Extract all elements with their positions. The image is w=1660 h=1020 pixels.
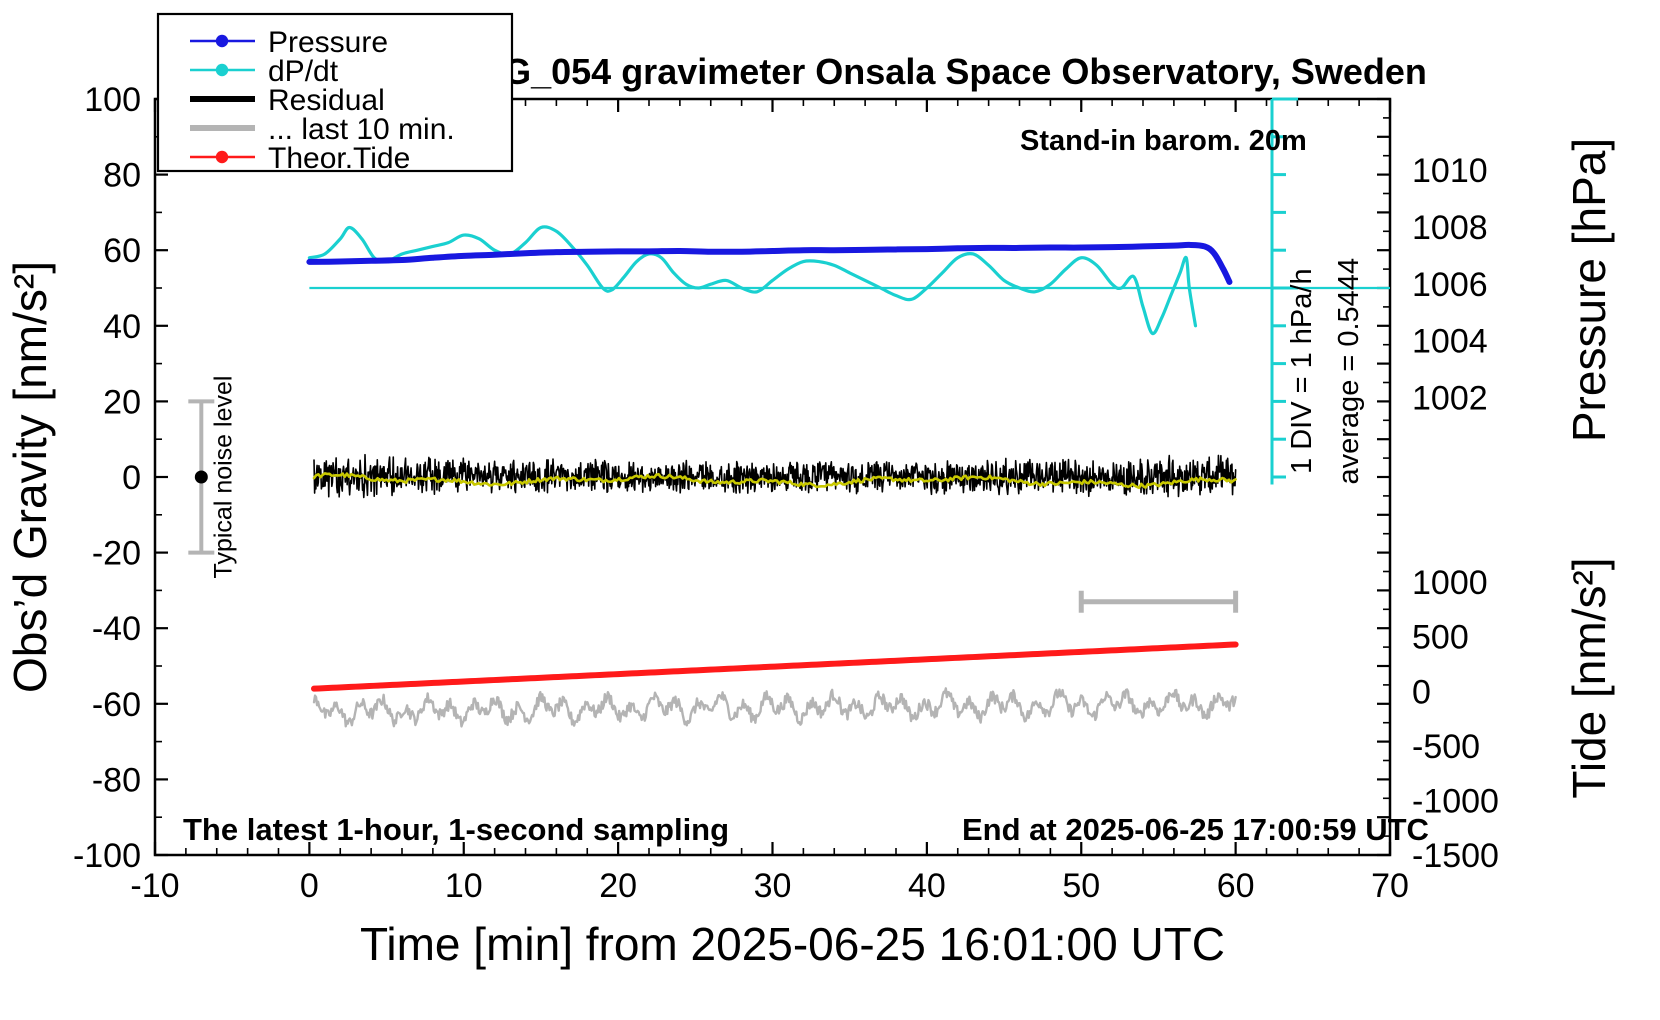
tide-axis-title: Tide [nm/s²] [1563,557,1615,798]
legend-marker-dot [216,35,228,47]
pressure-tick-label: 1006 [1412,266,1488,304]
y-tick-label: 40 [103,308,141,346]
gravimeter-chart: -10010203040506070Time [min] from 2025-0… [0,0,1660,1020]
x-axis-tick-labels: -10010203040506070 [130,867,1408,905]
tide-tick-label: -500 [1412,728,1480,766]
y-tick-label: -40 [92,610,141,648]
y-axis-tick-labels: -100-80-60-40-20020406080100 [73,81,141,875]
x-tick-label: 60 [1217,867,1255,905]
y-tick-label: 60 [103,232,141,270]
dpdt-average-label: average = 0.5444 [1333,258,1365,485]
stand-in-barometer-label: Stand-in barom. 20m [1020,125,1307,157]
y-tick-label: 0 [122,459,141,497]
noise-level-label: Typical noise level [209,376,237,579]
y-tick-label: -100 [73,837,141,875]
legend-marker-dot [216,151,228,163]
y-tick-label: -80 [92,761,141,799]
tide-tick-label: 1000 [1412,564,1488,602]
pressure-tick-label: 1004 [1412,323,1488,361]
tide-tick-label: 0 [1412,673,1431,711]
pressure-tick-label: 1010 [1412,152,1488,190]
x-tick-label: 40 [908,867,946,905]
noise-level-center-dot [195,471,208,484]
y-tick-label: 100 [84,81,141,119]
chart-canvas: -10010203040506070Time [min] from 2025-0… [0,0,1660,1020]
y-tick-label: -20 [92,535,141,573]
pressure-axis-title: Pressure [hPa] [1563,138,1615,442]
y-axis-title: Obs’d Gravity [nm/s²] [4,261,56,693]
x-tick-label: 20 [599,867,637,905]
legend-marker-dot [216,64,228,76]
end-time-label: End at 2025-06-25 17:00:59 UTC [962,812,1429,847]
legend-label: Theor.Tide [268,142,410,175]
pressure-tick-label: 1002 [1412,380,1488,418]
y-tick-label: -60 [92,686,141,724]
x-tick-label: 70 [1371,867,1409,905]
x-tick-label: 50 [1062,867,1100,905]
y-tick-label: 80 [103,157,141,195]
pressure-axis-labels: 10021004100610081010 [1412,152,1488,417]
x-axis-title: Time [min] from 2025-06-25 16:01:00 UTC [360,918,1225,970]
pressure-tick-label: 1008 [1412,209,1488,247]
x-tick-label: 0 [300,867,319,905]
y-tick-label: 20 [103,383,141,421]
dpdt-scale-label: 1 DIV = 1 hPa/h [1286,268,1318,474]
x-tick-label: 10 [445,867,483,905]
x-tick-label: 30 [754,867,792,905]
sampling-note: The latest 1-hour, 1-second sampling [183,812,729,847]
right-axis-ticks [1377,99,1390,855]
chart-title: SCG_054 gravimeter Onsala Space Observat… [453,51,1427,92]
tide-tick-label: 500 [1412,619,1469,657]
